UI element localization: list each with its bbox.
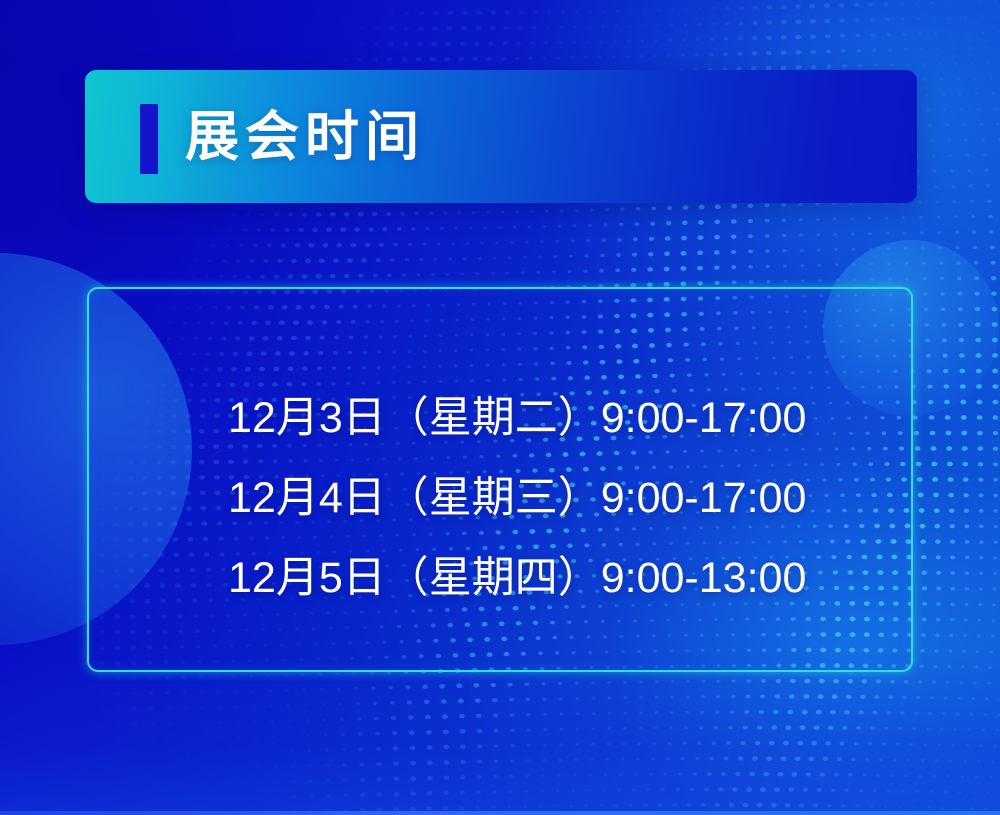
- schedule-row: 12月3日（星期二）9:00-17:00: [228, 378, 828, 458]
- schedule-row: 12月4日（星期三）9:00-17:00: [228, 458, 828, 538]
- background-bottom-edge-line: [0, 811, 1000, 815]
- page-title: 展会时间: [185, 110, 425, 164]
- section-header-banner: 展会时间: [85, 70, 917, 203]
- poster-canvas: 展会时间 12月3日（星期二）9:00-17:00 12月4日（星期三）9:00…: [0, 0, 1000, 815]
- schedule-list: 12月3日（星期二）9:00-17:00 12月4日（星期三）9:00-17:0…: [228, 378, 828, 618]
- schedule-row: 12月5日（星期四）9:00-13:00: [228, 538, 828, 618]
- accent-bar-icon: [140, 104, 158, 174]
